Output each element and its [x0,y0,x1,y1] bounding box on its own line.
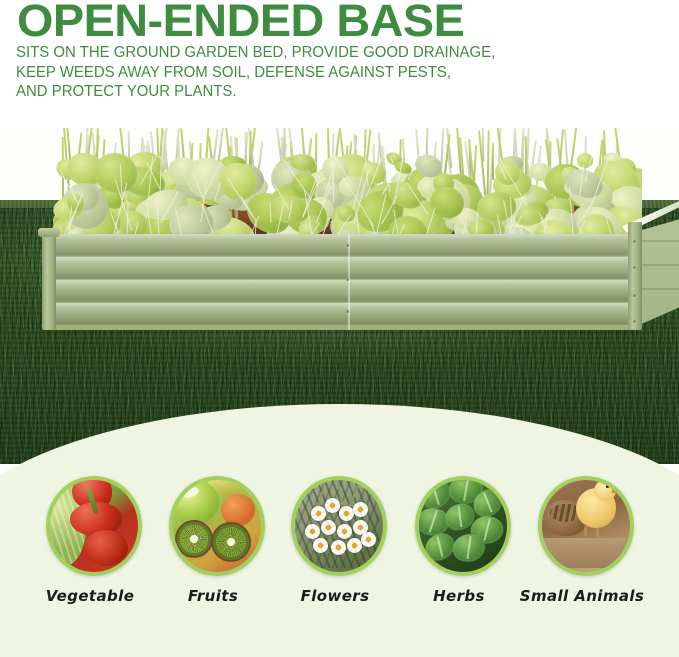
herbs-icon [415,476,503,568]
corrugation-rib [44,303,636,325]
use-case-thumbnail-small-animals[interactable] [538,476,634,576]
raised-garden-bed [36,178,648,356]
corner-post-right [628,222,642,330]
page-subtitle: SITS ON THE GROUND GARDEN BED, PROVIDE G… [16,43,634,102]
bed-front-panel [44,234,636,330]
use-case-thumbnail-vegetable[interactable] [46,476,142,576]
plant-spire [492,144,494,180]
fruits-icon [169,476,257,568]
use-case-label-flowers: Flowers [277,587,393,605]
use-case-thumbnail-fruits[interactable] [169,476,265,576]
screw-icon [633,240,636,243]
panel-seam [348,234,350,330]
use-case-thumbnail-herbs[interactable] [415,476,511,576]
corrugation-rib [44,280,636,302]
use-case-list: Vegetable Fruits [0,404,679,657]
screw-icon [633,320,636,323]
product-feature-image: OPEN-ENDED BASE SITS ON THE GROUND GARDE… [0,0,679,657]
screw-icon [633,294,636,297]
use-case-label-fruits: Fruits [153,587,273,605]
use-case-label-small-animals: Small Animals [509,587,655,605]
corner-post-cap-left [38,228,60,237]
corrugation-rib [44,257,636,279]
chicks-icon [538,476,626,568]
plant-cluster [42,116,642,248]
vegetables-icon [46,476,134,568]
corner-post-left [42,234,56,330]
screw-icon [346,278,349,281]
use-case-label-vegetable: Vegetable [26,587,154,605]
screw-icon [633,266,636,269]
use-case-thumbnail-flowers[interactable] [291,476,387,576]
page-title: OPEN-ENDED BASE [17,0,464,44]
header-block: OPEN-ENDED BASE SITS ON THE GROUND GARDE… [0,0,679,128]
corrugation-rib [44,234,636,256]
use-case-label-herbs: Herbs [407,587,511,605]
flowers-icon [291,476,379,568]
screw-icon [346,310,349,313]
screw-icon [346,244,349,247]
